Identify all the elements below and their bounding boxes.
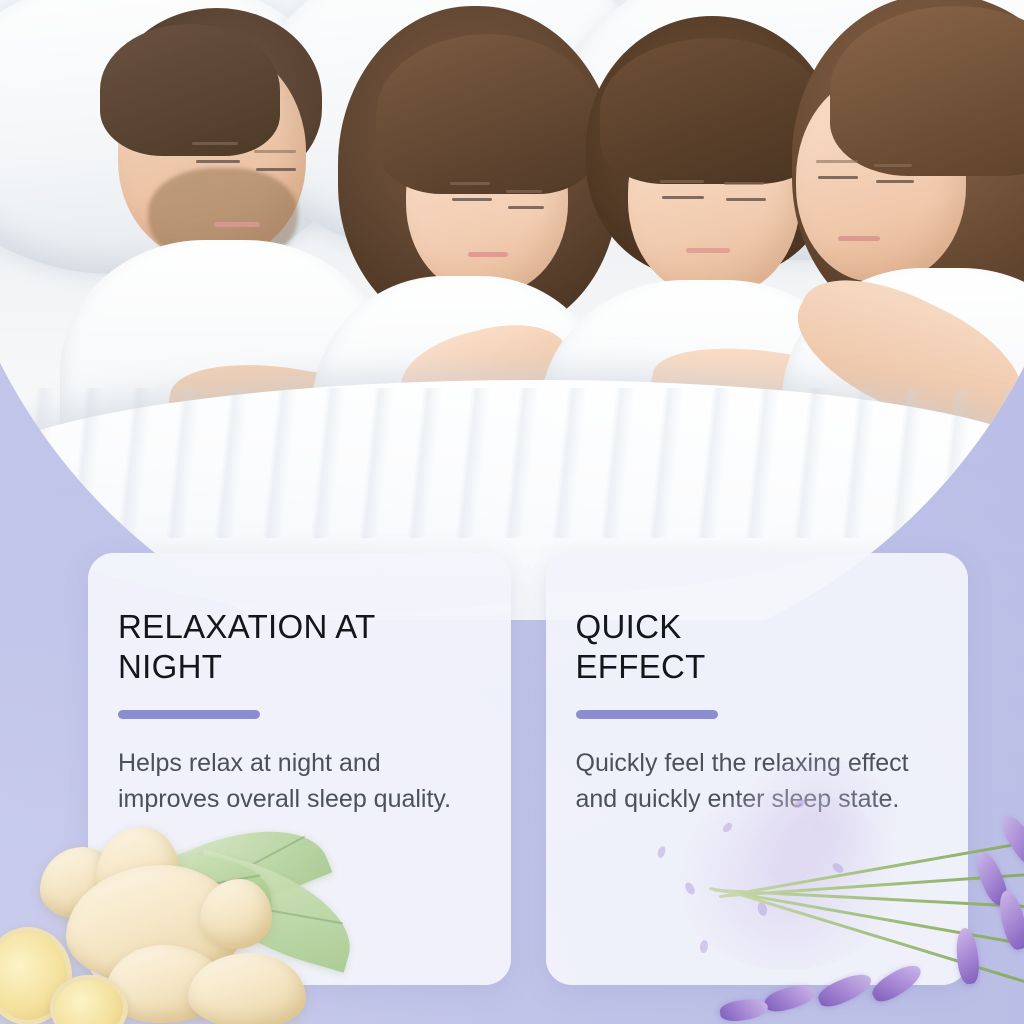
- eyebrow: [724, 182, 764, 185]
- feature-card-quick-effect[interactable]: QUICK EFFECT Quickly feel the relaxing e…: [546, 553, 969, 985]
- mouth: [214, 222, 260, 227]
- mouth: [686, 248, 730, 253]
- hair-front: [100, 24, 280, 156]
- eyebrow: [874, 164, 912, 167]
- closed-eye: [726, 198, 766, 201]
- closed-eye: [452, 198, 492, 201]
- mouth: [468, 252, 508, 257]
- eyebrow: [660, 180, 704, 183]
- feature-card-row: RELAXATION AT NIGHT Helps relax at night…: [88, 553, 968, 985]
- closed-eye: [196, 160, 240, 163]
- mouth: [838, 236, 880, 241]
- closed-eye: [508, 206, 544, 209]
- card-description: Quickly feel the relaxing effect and qui…: [576, 745, 935, 818]
- title-accent-rule: [118, 710, 260, 719]
- eyebrow: [450, 182, 490, 185]
- card-description: Helps relax at night and improves overal…: [118, 745, 477, 818]
- closed-eye: [256, 168, 296, 171]
- card-title: QUICK EFFECT: [576, 607, 935, 686]
- eyebrow: [816, 160, 858, 163]
- title-accent-rule: [576, 710, 718, 719]
- card-title: RELAXATION AT NIGHT: [118, 607, 477, 686]
- hair-front: [376, 34, 596, 194]
- eyebrow: [254, 150, 296, 153]
- feature-card-relaxation-at-night[interactable]: RELAXATION AT NIGHT Helps relax at night…: [88, 553, 511, 985]
- closed-eye: [662, 196, 704, 199]
- poster-canvas: RELAXATION AT NIGHT Helps relax at night…: [0, 0, 1024, 1024]
- family-sleeping-photo: [0, 0, 1024, 620]
- eyebrow: [506, 190, 542, 193]
- eyebrow: [192, 142, 238, 145]
- closed-eye: [876, 180, 914, 183]
- closed-eye: [818, 176, 858, 179]
